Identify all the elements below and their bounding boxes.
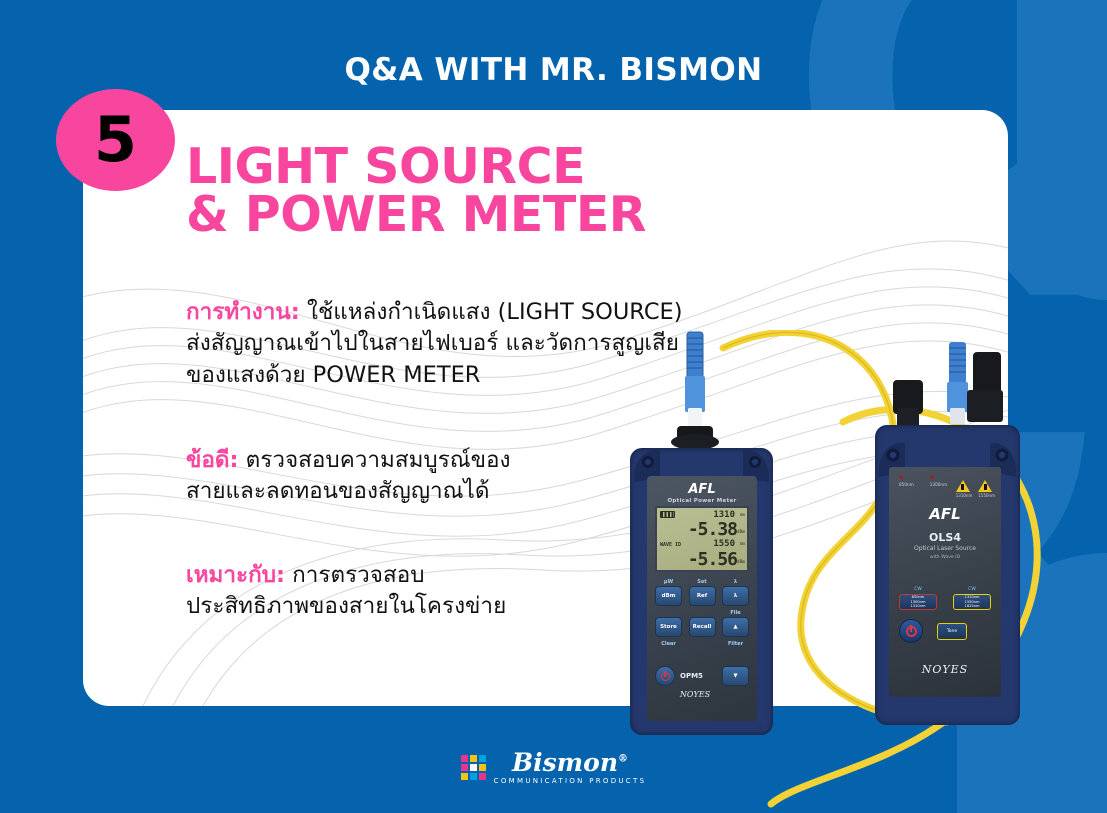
led-label-1300: 1300nm — [930, 482, 947, 487]
body-label-suitable-for: เหมาะกับ: — [186, 562, 285, 588]
key-caption-file: File — [722, 610, 749, 616]
warning-label-1550: 1550nm — [978, 493, 995, 498]
wbtn-b-line-3: 1625nm — [965, 604, 980, 608]
battery-icon — [660, 511, 675, 518]
cw-label-a: CW — [899, 587, 937, 592]
opm-keypad: µW Set λ dBm Ref λ File Store Recall — [655, 579, 749, 648]
opm-subtitle: Optical Power Meter — [647, 498, 757, 504]
key-down-arrow[interactable]: ▼ — [722, 666, 749, 686]
noyes-brand-label: NOYES — [889, 663, 1001, 676]
opm-bottom-row: OPM5 ▼ — [655, 666, 749, 686]
headline-line-2: & POWER METER — [186, 191, 826, 239]
led-label-850: 850nm — [899, 482, 914, 487]
warning-label-1310: 1310nm — [956, 493, 973, 498]
logo-square — [461, 755, 468, 762]
logo-square — [461, 764, 468, 771]
warning-group-1310: 1310nm — [956, 480, 973, 498]
cw-label-b: CW — [953, 587, 991, 592]
logo-tagline: COMMUNICATION PRODUCTS — [494, 777, 647, 785]
led-group-1300: 1300nm — [930, 475, 947, 487]
tone-button[interactable]: Tone — [937, 623, 967, 640]
body-line-1: การตรวจสอบ — [285, 562, 425, 588]
logo-square — [479, 755, 486, 762]
footer-logo: Bismon® COMMUNICATION PRODUCTS — [0, 750, 1107, 785]
key-caption-filter: Filter — [722, 641, 749, 647]
optical-power-meter-device: AFL Optical Power Meter 1310 nm -5.38 dB… — [630, 448, 773, 735]
warning-group-1550: 1550nm — [978, 480, 995, 498]
headline-line-1: LIGHT SOURCE — [186, 143, 826, 191]
opm-key-row-1: dBm Ref λ — [655, 586, 749, 606]
led-group-850: 850nm — [899, 475, 914, 487]
product-photo: AFL Optical Power Meter 1310 nm -5.38 dB… — [575, 330, 1107, 813]
page-title: Q&A WITH MR. BISMON — [0, 52, 1107, 88]
key-caption-blank-1 — [655, 610, 682, 616]
body-line-1: ใช้แหล่งกำเนิดแสง (LIGHT SOURCE) — [300, 299, 683, 325]
opm-lcd-display: 1310 nm -5.38 dBm WAVE ID 1550 nm -5.56 … — [655, 506, 749, 572]
body-line-2: สายและลดทอนของสัญญาณได้ — [186, 478, 489, 504]
opm-key-captions-row-1: µW Set λ — [655, 579, 749, 586]
ols-button-group-a: CW 850nm 1300nm 1310nm — [899, 587, 937, 610]
key-ref[interactable]: Ref — [689, 586, 716, 606]
key-up-arrow[interactable]: ▲ — [722, 617, 749, 637]
logo-registered-mark: ® — [618, 754, 628, 765]
lcd-value-unit-2: dBm — [737, 560, 745, 565]
ols-button-group-b: CW 1310nm 1550nm 1625nm — [953, 587, 991, 610]
logo-square — [470, 773, 477, 780]
lcd-unit-2: nm — [740, 542, 745, 547]
laser-warning-icons: 1310nm 1550nm — [956, 480, 995, 498]
logo-square — [470, 755, 477, 762]
afl-brand-logo: AFL — [889, 505, 1001, 523]
step-number-badge: 5 — [56, 89, 175, 191]
led-indicator-1300 — [930, 475, 934, 479]
body-line-3: ของแสงด้วย POWER METER — [186, 362, 480, 388]
lcd-wave-id-label: WAVE ID — [660, 542, 681, 548]
opm-key-row-2: Store Recall ▲ — [655, 617, 749, 637]
body-line-1: ตรวจสอบความสมบูรณ์ของ — [239, 447, 511, 473]
afl-brand-logo: AFL — [647, 482, 757, 497]
logo-brand-word: Bismon — [512, 748, 618, 777]
ols-model-label: OLS4 — [889, 531, 1001, 544]
lcd-wavelength-2: 1550 — [713, 539, 735, 549]
body-line-2: ประสิทธิภาพของสายในโครงข่าย — [186, 593, 506, 619]
key-caption-clear: Clear — [655, 641, 682, 647]
noyes-brand-label: NOYES — [655, 690, 735, 699]
opm-key-captions-row-3: Clear Filter — [655, 641, 749, 648]
led-indicator-850 — [899, 475, 903, 479]
logo-square — [479, 773, 486, 780]
power-button[interactable] — [899, 619, 923, 643]
key-caption-uw: µW — [655, 579, 682, 585]
bismon-logo-squares-icon — [461, 755, 486, 780]
lcd-value-2: -5.56 — [688, 549, 737, 570]
key-caption-set: Set — [689, 579, 716, 585]
ols-front-panel: 850nm 1300nm 1310nm 1550nm AFL OLS4 — [889, 467, 1001, 697]
key-dbm[interactable]: dBm — [655, 586, 682, 606]
logo-square — [461, 773, 468, 780]
key-lambda[interactable]: λ — [722, 586, 749, 606]
body-label-function: การทำงาน: — [186, 299, 300, 325]
logo-square — [470, 764, 477, 771]
wbtn-a-line-3: 1310nm — [911, 604, 926, 608]
ols-description: Optical Laser Source — [889, 545, 1001, 552]
opm-front-panel: AFL Optical Power Meter 1310 nm -5.38 dB… — [647, 476, 757, 721]
key-caption-blank-2 — [689, 610, 716, 616]
lcd-unit-1: nm — [740, 513, 745, 518]
opm-model-label: OPM5 — [680, 672, 703, 680]
key-caption-lambda: λ — [722, 579, 749, 585]
key-recall[interactable]: Recall — [689, 617, 716, 637]
lcd-value-1: -5.38 — [688, 519, 737, 540]
optical-laser-source-device: 850nm 1300nm 1310nm 1550nm AFL OLS4 — [875, 425, 1020, 725]
opm-key-captions-row-2: File — [655, 610, 749, 617]
logo-text: Bismon® COMMUNICATION PRODUCTS — [494, 750, 647, 785]
ols-wavelength-buttons: CW 850nm 1300nm 1310nm CW 1310nm 1550nm … — [899, 587, 991, 610]
wavelength-button-b[interactable]: 1310nm 1550nm 1625nm — [953, 594, 991, 610]
lcd-value-unit-1: dBm — [737, 530, 745, 535]
power-button[interactable] — [655, 666, 675, 686]
logo-brand-name: Bismon® — [512, 750, 628, 775]
ols-description-secondary: with Wave ID — [889, 555, 1001, 560]
body-label-advantage: ข้อดี: — [186, 447, 239, 473]
ols-control-row: Tone — [899, 619, 991, 643]
key-caption-blank-3 — [689, 641, 716, 647]
headline: LIGHT SOURCE & POWER METER — [186, 143, 826, 238]
key-store[interactable]: Store — [655, 617, 682, 637]
logo-square — [479, 764, 486, 771]
laser-warning-triangle-icon — [956, 480, 970, 492]
laser-warning-triangle-icon — [978, 480, 992, 492]
wavelength-button-a[interactable]: 850nm 1300nm 1310nm — [899, 594, 937, 610]
